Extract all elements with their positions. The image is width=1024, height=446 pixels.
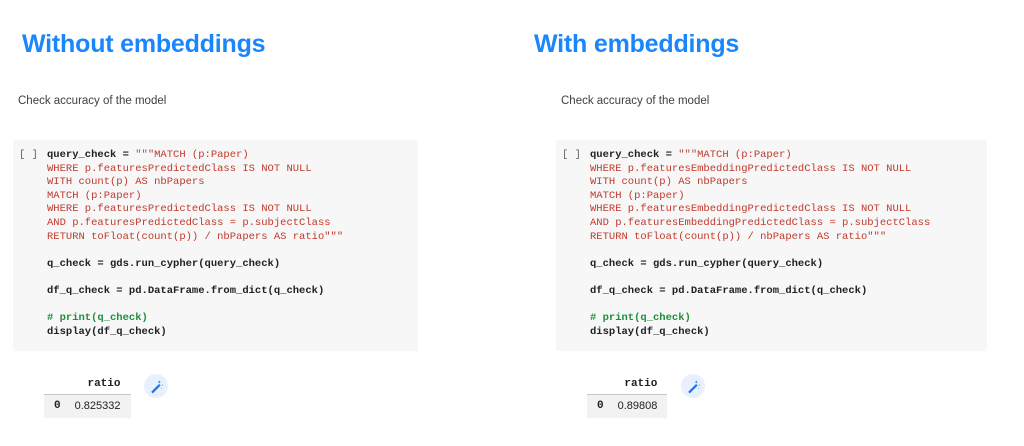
cell-ratio-value: 0.89808 (608, 395, 668, 419)
code-line: display(df_q_check) (590, 326, 710, 338)
page-title: Without embeddings (22, 30, 265, 59)
column-header-ratio: ratio (608, 378, 668, 395)
magic-wand-icon[interactable] (681, 374, 705, 398)
table-header-row: ratio (44, 378, 131, 395)
table-header-row: ratio (587, 378, 667, 395)
magic-wand-icon[interactable] (144, 374, 168, 398)
cell-ratio-value: 0.825332 (65, 395, 131, 419)
code-line: q_check = gds.run_cypher(query_check) (590, 258, 823, 270)
cell-caption: Check accuracy of the model (561, 95, 709, 107)
code-line: display(df_q_check) (47, 326, 167, 338)
page-title: With embeddings (534, 30, 739, 59)
code-line: """ (135, 149, 154, 161)
comparison-board: Without embeddings Check accuracy of the… (0, 0, 1024, 446)
index-header (587, 378, 608, 395)
notebook-code-cell[interactable]: [ ] query_check = """MATCH (p:Paper) WHE… (13, 140, 418, 351)
code-line: df_q_check = pd.DataFrame.from_dict(q_ch… (47, 285, 324, 297)
index-header (44, 378, 65, 395)
table-row: 0 0.825332 (44, 395, 131, 419)
code-line: """ (678, 149, 697, 161)
code-line: MATCH (p:Paper) WHERE p.featuresPredicte… (47, 149, 343, 243)
code-line: query_check = (47, 149, 135, 161)
cell-output: ratio 0 0.825332 (13, 378, 273, 423)
run-cell-prompt[interactable]: [ ] (13, 149, 47, 163)
table-row: 0 0.89808 (587, 395, 667, 419)
column-header-ratio: ratio (65, 378, 131, 395)
code-line: df_q_check = pd.DataFrame.from_dict(q_ch… (590, 285, 867, 297)
code-comment: # print(q_check) (590, 312, 691, 324)
row-index: 0 (44, 395, 65, 419)
dataframe-table: ratio 0 0.89808 (587, 378, 667, 418)
code-content[interactable]: query_check = """MATCH (p:Paper) WHERE p… (590, 149, 987, 339)
code-line: MATCH (p:Paper) WHERE p.featuresEmbeddin… (590, 149, 930, 243)
code-line: query_check = (590, 149, 678, 161)
code-comment: # print(q_check) (47, 312, 148, 324)
dataframe-table: ratio 0 0.825332 (44, 378, 131, 418)
code-content[interactable]: query_check = """MATCH (p:Paper) WHERE p… (47, 149, 418, 339)
panel-without-embeddings: Without embeddings Check accuracy of the… (0, 0, 512, 446)
row-index: 0 (587, 395, 608, 419)
cell-output: ratio 0 0.89808 (556, 378, 816, 423)
run-cell-prompt[interactable]: [ ] (556, 149, 590, 163)
cell-caption: Check accuracy of the model (18, 95, 166, 107)
panel-with-embeddings: With embeddings Check accuracy of the mo… (512, 0, 1024, 446)
code-line: q_check = gds.run_cypher(query_check) (47, 258, 280, 270)
notebook-code-cell[interactable]: [ ] query_check = """MATCH (p:Paper) WHE… (556, 140, 987, 351)
